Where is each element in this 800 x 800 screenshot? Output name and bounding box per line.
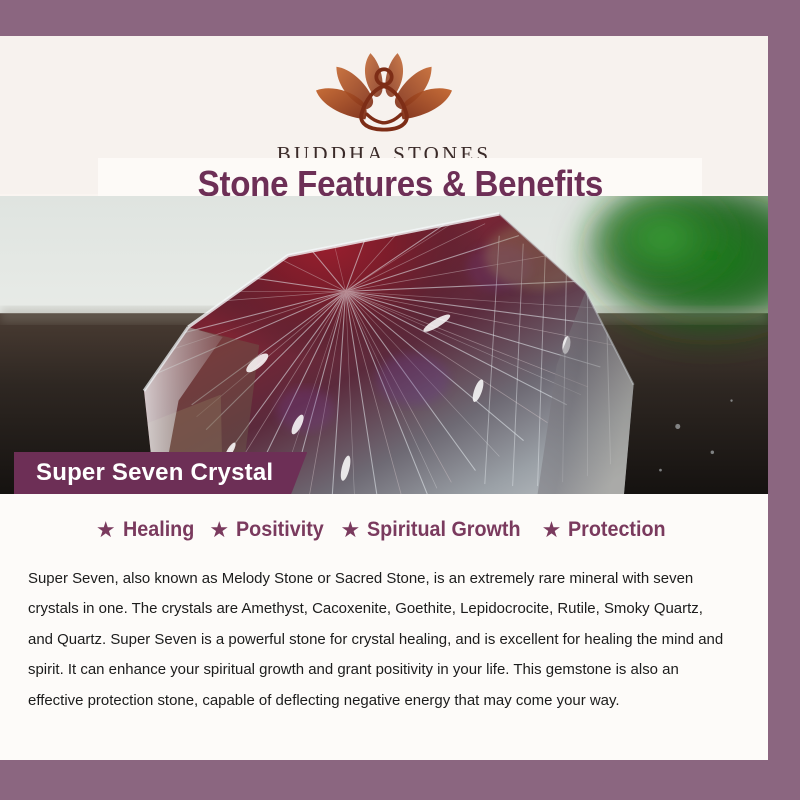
benefit-item-healing: ★ Healing: [96, 518, 199, 542]
frame-band-bottom: [0, 760, 620, 800]
stone-name-banner: Super Seven Crystal: [14, 452, 307, 494]
star-icon: ★: [96, 519, 116, 541]
benefit-item-positivity: ★ Positivity: [209, 518, 329, 542]
stone-description: Super Seven, also known as Melody Stone …: [28, 564, 729, 716]
star-icon: ★: [542, 519, 562, 541]
benefit-label: Healing: [123, 518, 194, 542]
frame-band-right: [768, 0, 800, 800]
frame-band-top: [420, 0, 800, 36]
content-section: ★ Healing ★ Positivity ★ Spiritual Growt…: [0, 494, 768, 760]
star-icon: ★: [209, 519, 229, 541]
benefit-label: Spiritual Growth: [367, 518, 521, 542]
benefit-label: Protection: [568, 518, 666, 542]
lotus-meditation-icon: [299, 48, 469, 140]
benefit-item-spiritual-growth: ★ Spiritual Growth: [341, 518, 531, 542]
stone-name: Super Seven Crystal: [36, 459, 273, 487]
stone-photo: Super Seven Crystal: [0, 196, 768, 494]
info-card: BUDDHA STONES Stone Features & Benefits: [0, 36, 768, 760]
benefit-label: Positivity: [236, 518, 324, 542]
benefits-row: ★ Healing ★ Positivity ★ Spiritual Growt…: [28, 518, 740, 542]
benefit-item-protection: ★ Protection: [542, 518, 673, 542]
star-icon: ★: [341, 519, 361, 541]
